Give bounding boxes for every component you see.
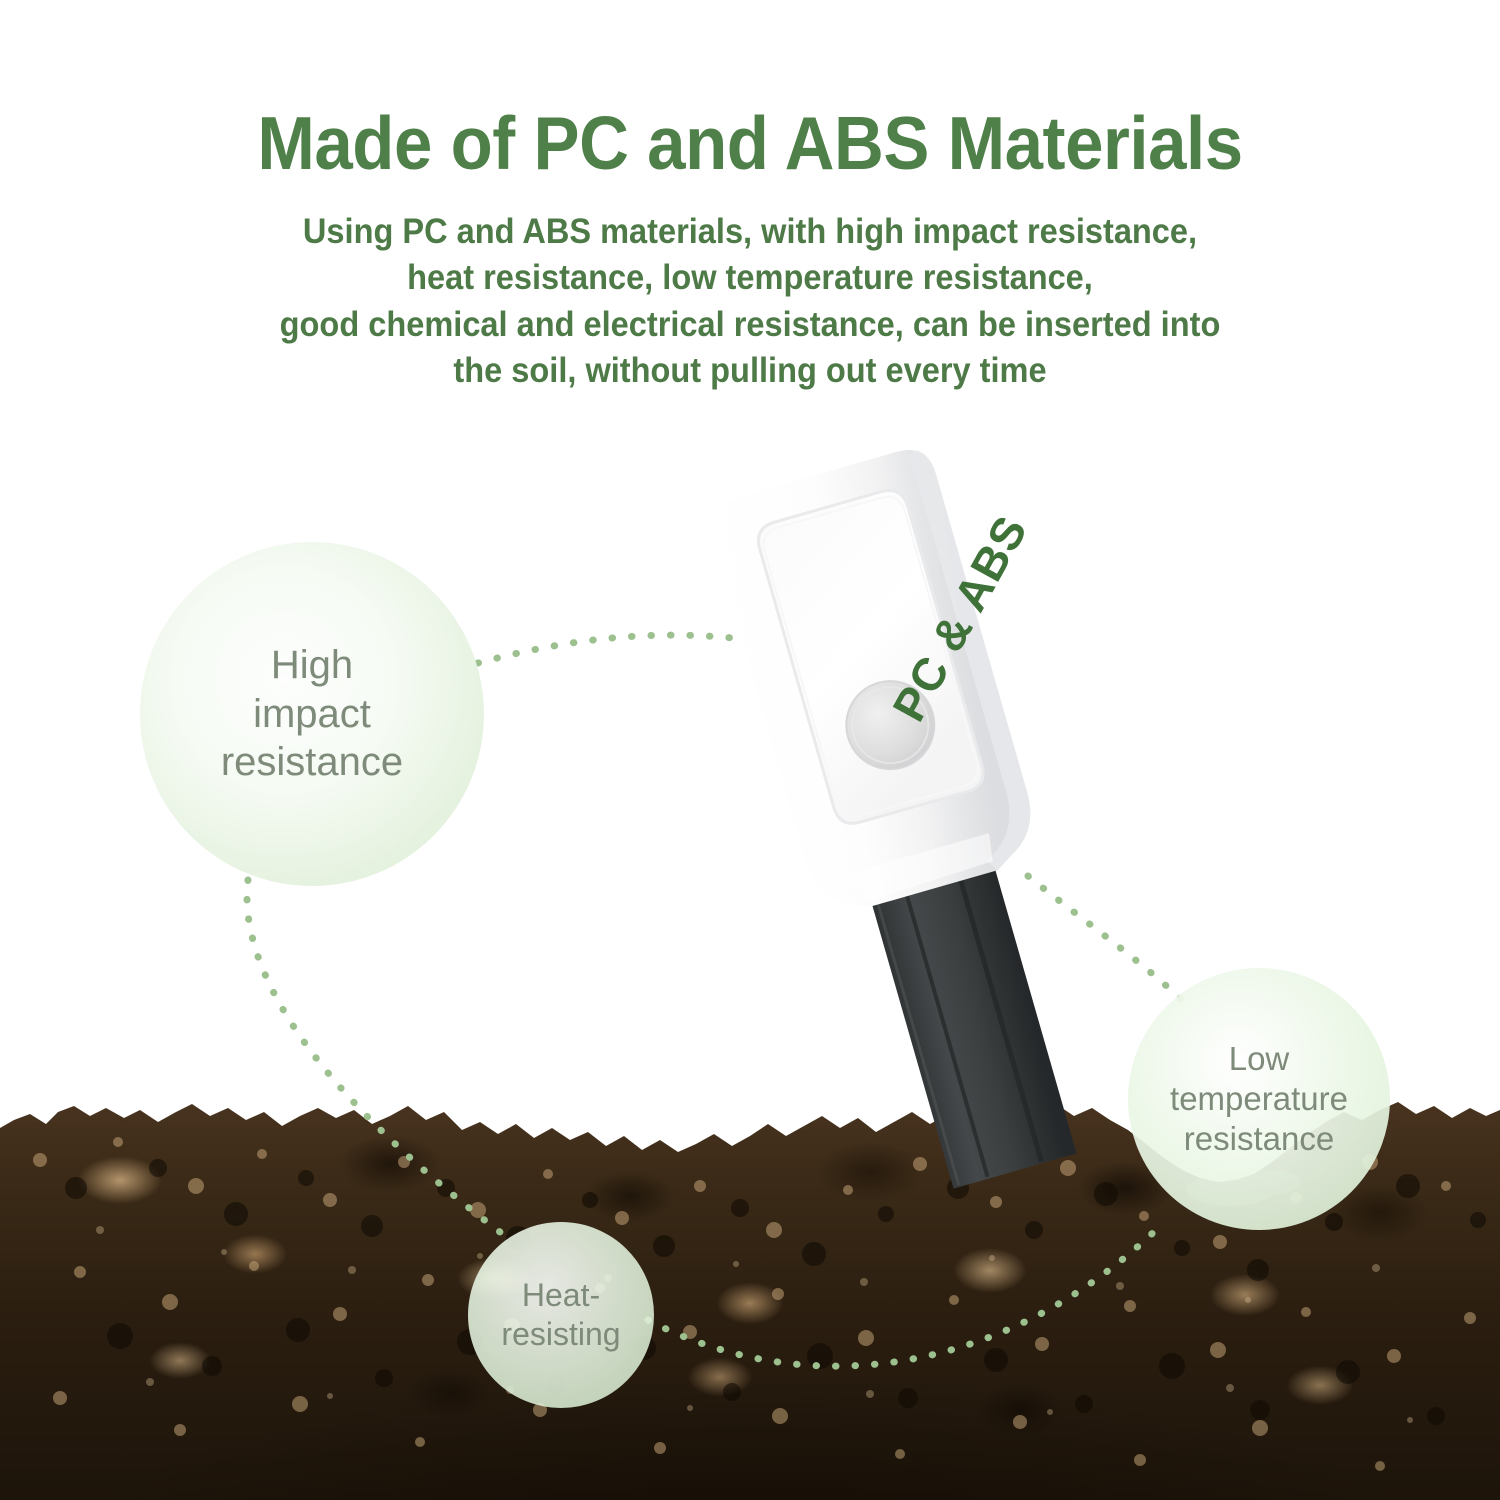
callout-high-impact-resistance[interactable]: High impact resistance [140, 542, 484, 886]
callout-high-impact-line-1: High [221, 641, 403, 690]
callout-high-impact-line-3: resistance [221, 738, 403, 787]
callout-low-temp-line-1: Low [1170, 1039, 1348, 1079]
product-feature-graphic: Made of PC and ABS Materials Using PC an… [0, 0, 1500, 1500]
callout-low-temp-line-2: temperature [1170, 1079, 1348, 1119]
callout-heat-line-1: Heat- [501, 1276, 620, 1315]
callout-low-temperature-resistance[interactable]: Low temperature resistance [1128, 968, 1390, 1230]
device-group [704, 443, 1127, 1203]
soil-probe-blade [868, 855, 1076, 1188]
callout-low-temp-line-3: resistance [1170, 1119, 1348, 1159]
callout-high-impact-line-2: impact [221, 690, 403, 739]
callout-heat-line-2: resisting [501, 1315, 620, 1354]
callout-heat-resisting[interactable]: Heat- resisting [468, 1222, 654, 1408]
